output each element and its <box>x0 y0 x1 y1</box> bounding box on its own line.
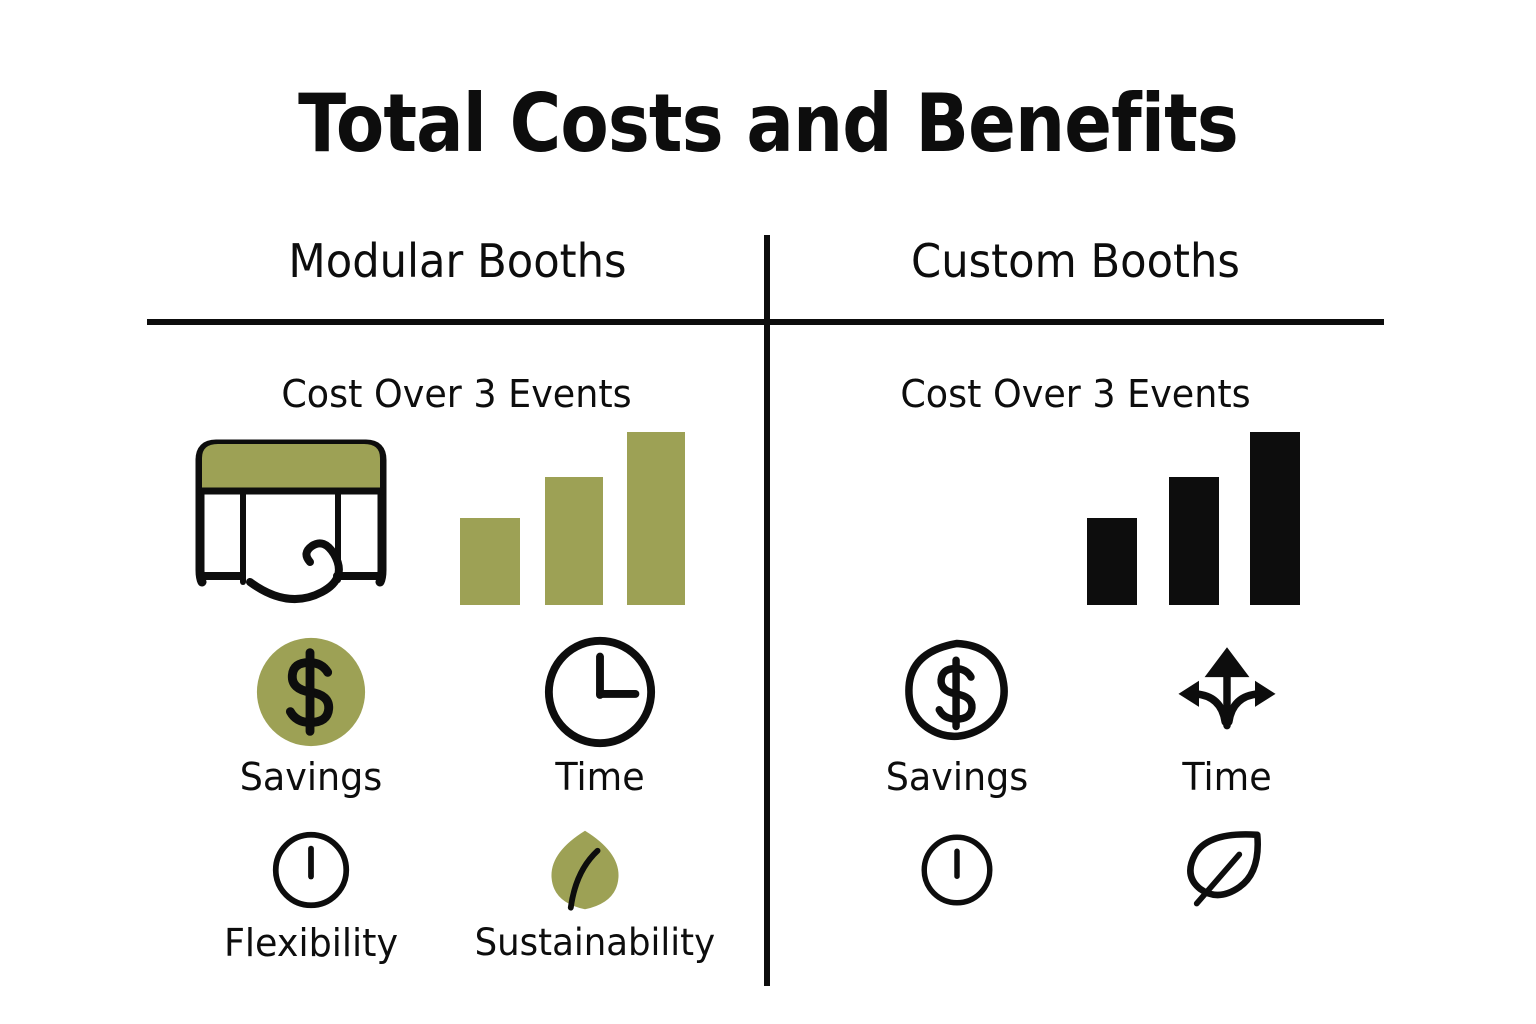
subheading-cost-over-3-events-modular: Cost Over 3 Events <box>160 372 752 416</box>
benefit-label: Flexibility <box>201 924 422 964</box>
column-modular: Cost Over 3 Events <box>148 322 765 1022</box>
benefit-time-modular[interactable]: Time <box>485 632 715 798</box>
benefit-savings-modular[interactable]: Savings <box>196 632 426 798</box>
row-illustration-custom <box>767 430 1384 610</box>
benefit-label: Savings <box>201 758 422 798</box>
dollar-circle-filled-icon <box>196 632 426 752</box>
bar-event-2 <box>1169 477 1219 605</box>
benefit-flexibility-custom[interactable] <box>842 822 1072 924</box>
benefit-sustainability-modular[interactable]: Sustainability <box>470 822 700 963</box>
column-custom: Cost Over 3 Events Savings <box>767 322 1384 1022</box>
bar-event-3 <box>1250 432 1300 605</box>
bar-event-3 <box>627 432 685 605</box>
leaf-filled-icon <box>470 822 700 918</box>
benefit-label: Savings <box>847 758 1068 798</box>
bar-chart-modular <box>460 430 690 605</box>
clock-icon <box>485 632 715 752</box>
benefit-label: Sustainability <box>475 924 696 963</box>
bar-event-1 <box>1087 518 1137 605</box>
column-header-modular: Modular Booths <box>167 236 749 287</box>
benefit-flexibility-modular[interactable]: Flexibility <box>196 822 426 964</box>
page-title: Total Costs and Benefits <box>92 84 1444 164</box>
benefit-label: Time <box>490 758 711 798</box>
small-clock-icon <box>196 822 426 918</box>
benefit-savings-custom[interactable]: Savings <box>842 632 1072 798</box>
dollar-circle-outline-icon <box>842 632 1072 752</box>
booth-icon <box>186 430 396 605</box>
branching-arrows-icon <box>1112 632 1342 752</box>
benefit-label: Time <box>1117 758 1338 798</box>
infographic-canvas: Total Costs and Benefits Modular Booths … <box>0 0 1536 1024</box>
column-header-custom: Custom Booths <box>786 236 1366 287</box>
subheading-cost-over-3-events-custom: Cost Over 3 Events <box>779 372 1371 416</box>
small-clock-icon <box>842 822 1072 918</box>
bar-event-1 <box>460 518 520 605</box>
bar-event-2 <box>545 477 603 605</box>
leaf-outline-icon <box>1112 822 1342 918</box>
bar-chart-custom <box>1087 430 1317 605</box>
benefit-time-custom[interactable]: Time <box>1112 632 1342 798</box>
row-illustration-modular <box>148 430 765 610</box>
benefit-sustainability-custom[interactable] <box>1112 822 1342 924</box>
